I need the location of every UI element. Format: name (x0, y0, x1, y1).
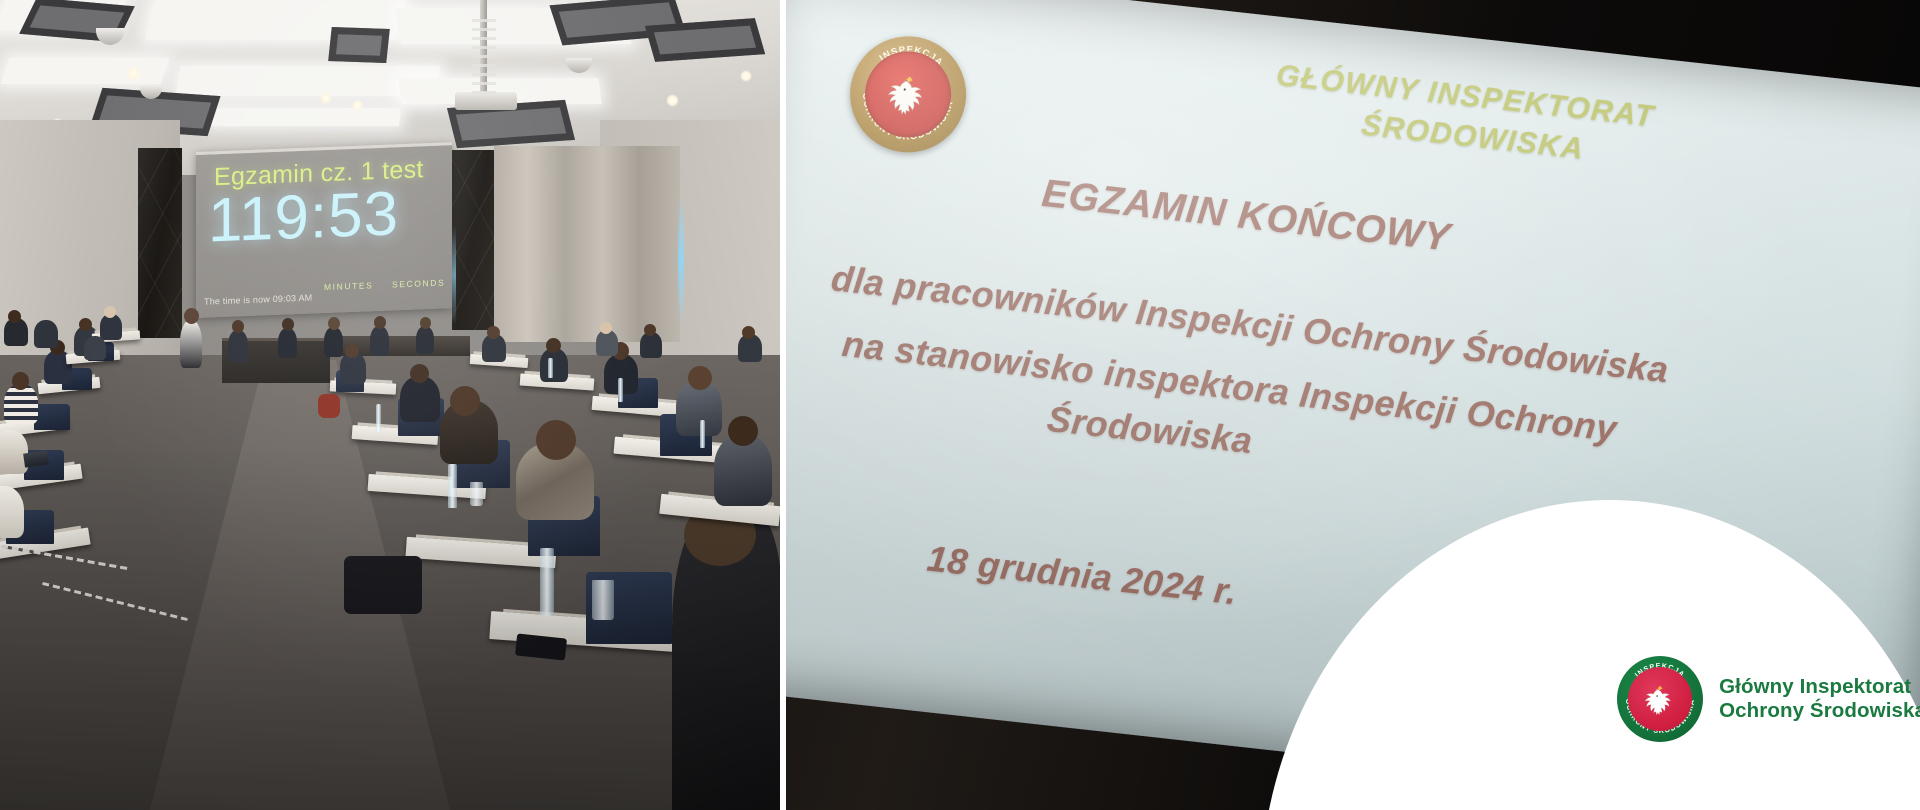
downlight (126, 66, 141, 81)
conference-hall-photo: Egzamin cz. 1 test 119:53 MINUTES SECOND… (0, 0, 780, 810)
water-bottle (548, 358, 553, 378)
gios-seal-slide: INSPEKCJA OCHRONY ŚRODOWISKA (845, 31, 971, 157)
person-candidate (34, 320, 58, 348)
person-head (742, 326, 755, 339)
water-bottle (618, 378, 623, 402)
screen-seconds-label: SECONDS (392, 277, 445, 289)
water-bottle (540, 548, 554, 616)
person-head (8, 310, 21, 323)
person-head (487, 326, 500, 339)
ceiling-vent-frame (645, 18, 765, 62)
water-glass (470, 482, 483, 506)
downlight (740, 70, 752, 82)
person-head (420, 317, 431, 329)
slide-date: 18 grudnia 2024 r. (925, 537, 1239, 613)
water-glass (592, 580, 614, 620)
person-candidate (4, 384, 38, 424)
water-bottle (448, 464, 457, 508)
wall-led-strip (452, 226, 456, 324)
person-head (546, 338, 561, 353)
organisation-line1: Główny Inspektorat (1719, 675, 1920, 699)
marble-pillar-left (138, 148, 182, 338)
water-bottle (700, 420, 705, 448)
slide-heading: EGZAMIN KOŃCOWY (1040, 172, 1453, 261)
gios-seal-green: INSPEKCJA OCHRONY ŚRODOWISKA (1617, 656, 1703, 742)
person-head (374, 316, 386, 329)
person-head (345, 344, 359, 358)
person-head (644, 324, 656, 336)
window-curtain (494, 146, 680, 342)
backpack (344, 556, 422, 614)
screenshot-root: Egzamin cz. 1 test 119:53 MINUTES SECOND… (0, 0, 1920, 810)
screen-countdown-timer: 119:53 (208, 183, 399, 252)
ceiling-light-panel (1, 58, 170, 84)
person-head (450, 386, 480, 416)
screen-current-time-note: The time is now 09:03 AM (204, 293, 312, 307)
presentation-slide-photo: INSPEKCJA OCHRONY ŚRODOWISKA (786, 0, 1920, 810)
person-panelist (324, 327, 343, 357)
person-head (688, 366, 712, 390)
water-bottle (376, 404, 381, 432)
organisation-name: Główny Inspektorat Ochrony Środowiska (1719, 675, 1920, 723)
person-panelist (416, 326, 434, 354)
downlight (352, 100, 363, 111)
gios-logo-lockup: INSPEKCJA OCHRONY ŚRODOWISKA (1617, 656, 1920, 742)
person-head (410, 364, 429, 383)
person-head (232, 320, 244, 333)
downlight (320, 92, 332, 104)
ceiling-vent-frame (328, 27, 390, 63)
person-head (328, 317, 340, 330)
projector (455, 92, 517, 110)
person-panelist (278, 328, 297, 358)
person-panelist (228, 330, 248, 362)
marble-pillar-right (452, 150, 494, 330)
wall-led-strip (678, 196, 684, 324)
organisation-line2: Ochrony Środowiska (1719, 699, 1920, 723)
person-head (12, 372, 29, 390)
person-head (600, 322, 612, 334)
person-panelist (370, 326, 389, 356)
person-candidate (540, 348, 568, 382)
person-head (728, 416, 758, 446)
person-head (79, 318, 92, 331)
ceiling-light-panel (209, 108, 401, 126)
person-standing-speaker (180, 320, 202, 368)
person-head (536, 420, 576, 460)
person-head (282, 318, 294, 331)
white-eagle-icon (880, 69, 936, 124)
white-eagle-icon (1640, 682, 1680, 720)
person-candidate (0, 430, 28, 474)
projector-lattice (472, 18, 496, 94)
projection-screen: Egzamin cz. 1 test 119:53 MINUTES SECOND… (196, 142, 452, 318)
downlight (666, 94, 679, 107)
chair (34, 404, 70, 430)
person-head (184, 308, 199, 324)
person-candidate (84, 336, 106, 360)
person-head (104, 306, 116, 318)
backpack (318, 394, 340, 418)
screen-minutes-label: MINUTES (324, 280, 373, 292)
slide-body-line3: Środowiska (1045, 398, 1254, 462)
